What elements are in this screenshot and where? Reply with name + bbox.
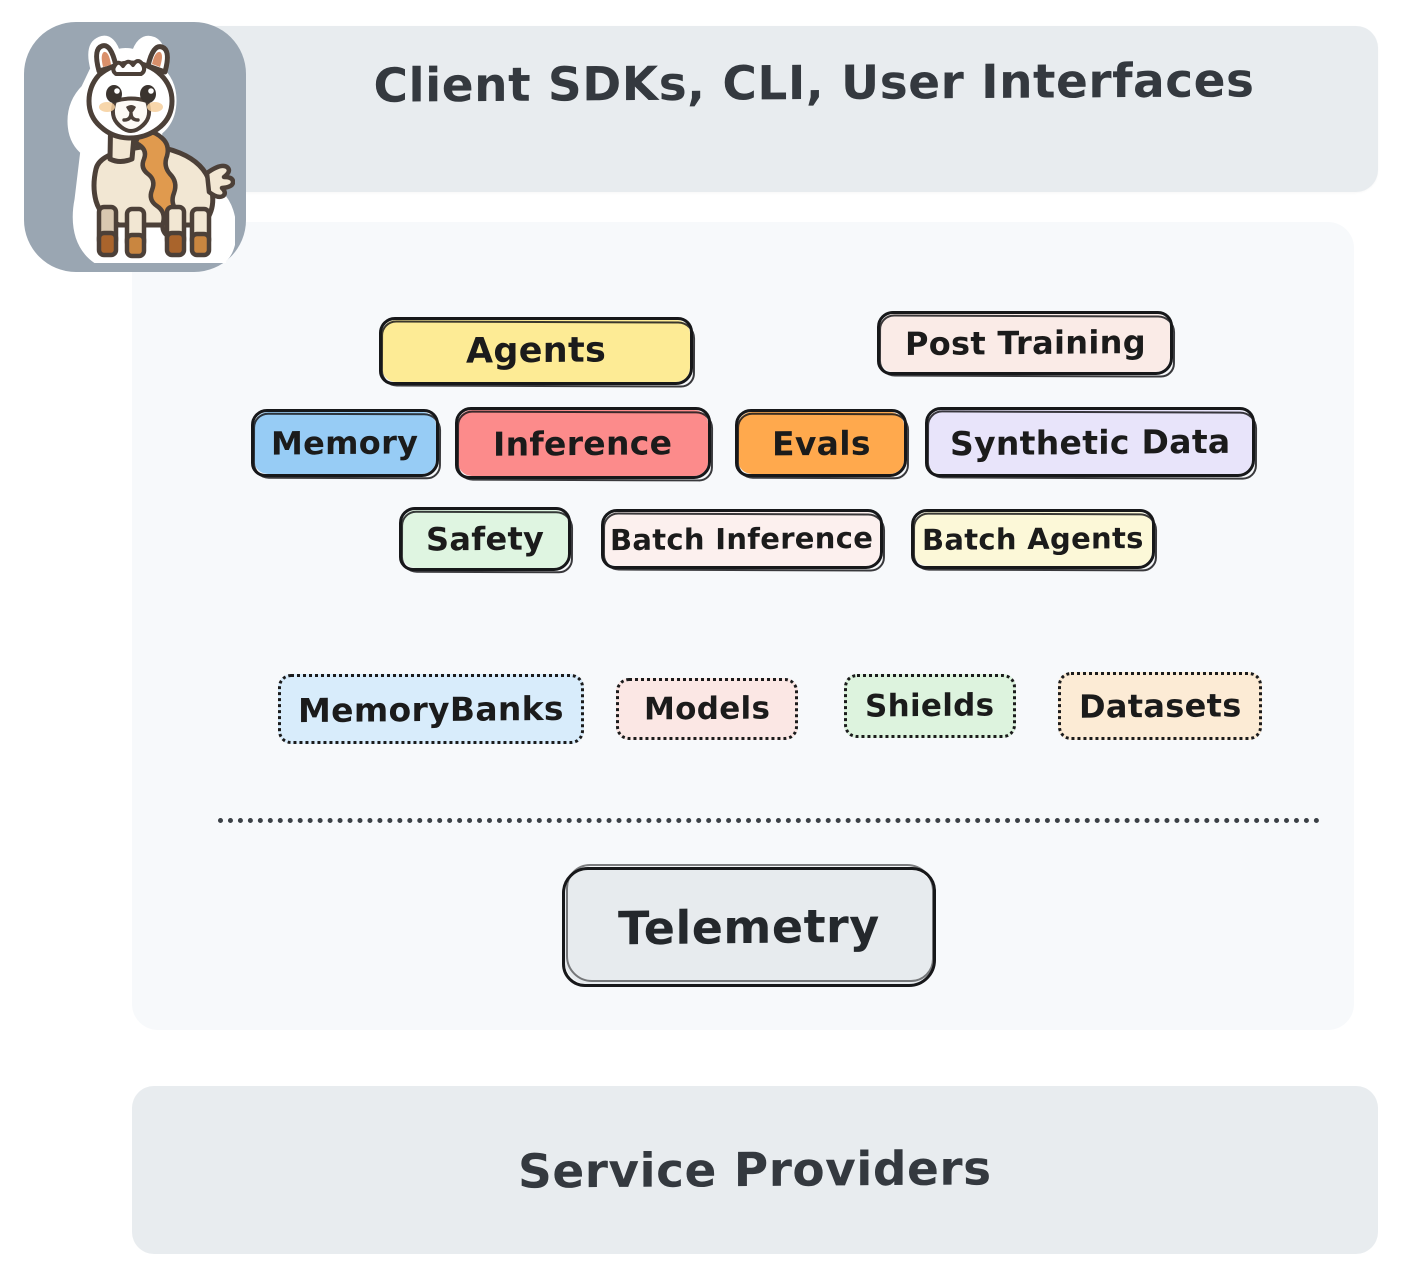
- api-box-synthetic-data[interactable]: Synthetic Data: [928, 410, 1252, 474]
- resource-box-models[interactable]: Models: [616, 678, 798, 740]
- api-box-label: Batch Agents: [922, 521, 1144, 557]
- api-box-batch-agents[interactable]: Batch Agents: [914, 512, 1152, 566]
- api-box-post-training[interactable]: Post Training: [880, 314, 1170, 372]
- api-box-label: Inference: [493, 423, 672, 464]
- resource-box-label: MemoryBanks: [298, 688, 564, 729]
- api-box-label: Memory: [271, 423, 418, 462]
- api-box-label: Post Training: [905, 323, 1146, 363]
- api-box-inference[interactable]: Inference: [458, 410, 708, 476]
- llama-logo-badge: [24, 22, 246, 272]
- resource-box-label: Shields: [865, 687, 994, 724]
- llama-icon: [35, 31, 235, 263]
- resource-box-label: Models: [644, 690, 770, 727]
- api-box-label: Agents: [466, 330, 606, 371]
- resource-box-label: Datasets: [1079, 686, 1242, 725]
- api-box-batch-inference[interactable]: Batch Inference: [604, 512, 880, 566]
- service-providers-title: Service Providers: [518, 1141, 992, 1199]
- diagram-canvas: Client SDKs, CLI, User Interfaces: [0, 0, 1410, 1268]
- api-box-label: Synthetic Data: [950, 421, 1230, 462]
- api-box-safety[interactable]: Safety: [402, 510, 568, 568]
- section-divider: [218, 818, 1320, 823]
- api-box-label: Safety: [426, 519, 544, 558]
- service-providers-band: Service Providers: [132, 1086, 1378, 1254]
- client-layer-title: Client SDKs, CLI, User Interfaces: [250, 0, 1378, 169]
- api-box-evals[interactable]: Evals: [738, 412, 904, 474]
- api-box-label: Batch Inference: [610, 521, 873, 557]
- resource-box-datasets[interactable]: Datasets: [1058, 672, 1262, 740]
- telemetry-label: Telemetry: [618, 899, 880, 956]
- api-box-memory[interactable]: Memory: [254, 412, 436, 474]
- telemetry-box[interactable]: Telemetry: [565, 870, 933, 984]
- resource-box-memorybanks[interactable]: MemoryBanks: [278, 674, 584, 744]
- resource-box-shields[interactable]: Shields: [844, 674, 1016, 738]
- api-box-agents[interactable]: Agents: [382, 320, 690, 382]
- api-box-label: Evals: [772, 423, 871, 463]
